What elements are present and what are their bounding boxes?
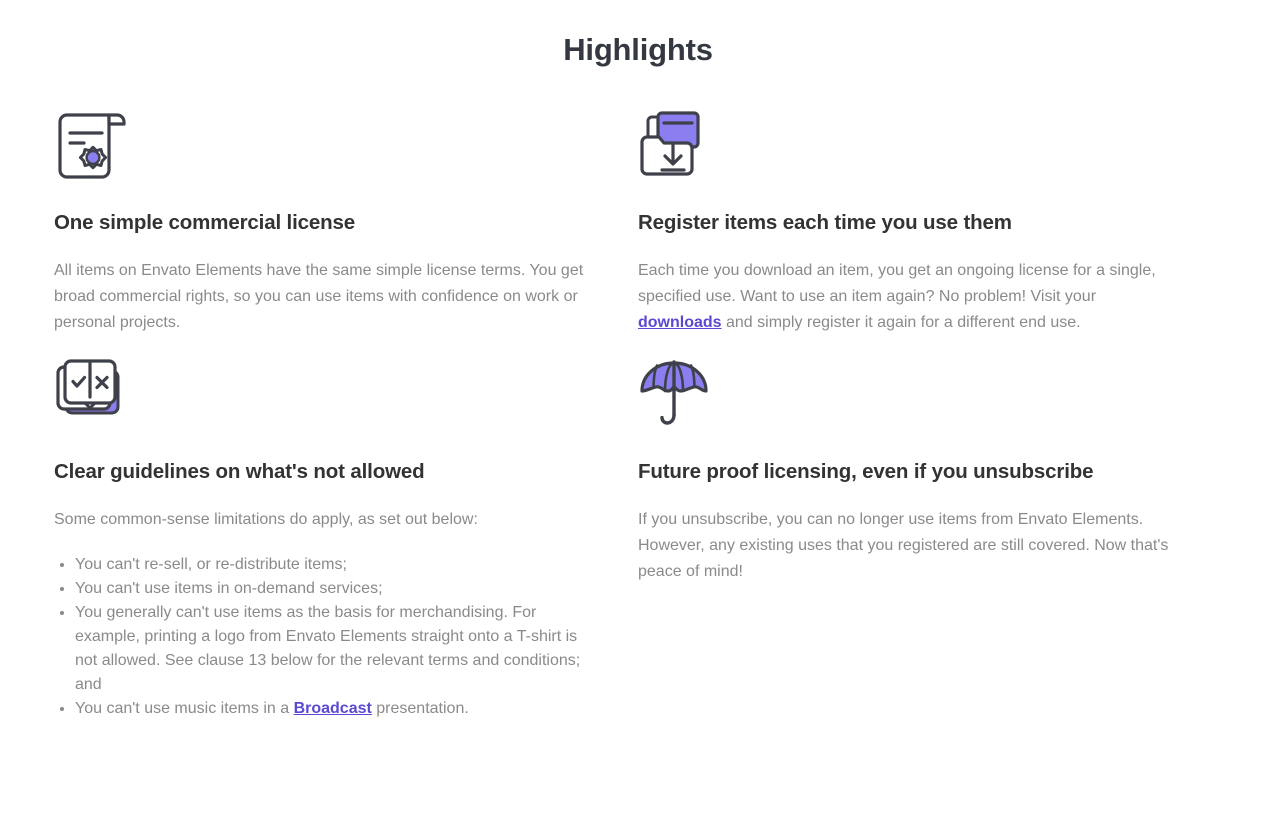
card-body-text: If you unsubscribe, you can no longer us… bbox=[638, 511, 1168, 580]
highlights-grid: One simple commercial license All items … bbox=[0, 70, 1276, 721]
download-folder-icon bbox=[638, 108, 1178, 192]
highlight-card-register: Register items each time you use them Ea… bbox=[638, 108, 1222, 336]
card-body: All items on Envato Elements have the sa… bbox=[54, 258, 594, 336]
card-body: Each time you download an item, you get … bbox=[638, 258, 1178, 336]
list-item: You generally can't use items as the bas… bbox=[54, 601, 594, 697]
list-item-text: You can't use items in on-demand service… bbox=[75, 580, 383, 597]
list-item-text-after: presentation. bbox=[372, 700, 469, 717]
list-item-text: You generally can't use items as the bas… bbox=[75, 604, 580, 693]
card-body: Some common-sense limitations do apply, … bbox=[54, 507, 594, 533]
umbrella-icon bbox=[638, 357, 1178, 441]
highlight-card-future-proof: Future proof licensing, even if you unsu… bbox=[638, 357, 1222, 721]
card-body-text: All items on Envato Elements have the sa… bbox=[54, 262, 583, 331]
card-title: Future proof licensing, even if you unsu… bbox=[638, 459, 1178, 485]
card-title: Register items each time you use them bbox=[638, 210, 1178, 236]
card-body-text-after: and simply register it again for a diffe… bbox=[722, 314, 1081, 331]
list-item: You can't use items in on-demand service… bbox=[54, 577, 594, 601]
card-body-text-before: Each time you download an item, you get … bbox=[638, 262, 1156, 305]
highlight-card-guidelines: Clear guidelines on what's not allowed S… bbox=[54, 357, 638, 721]
list-item-text-before: You can't use music items in a bbox=[75, 700, 294, 717]
highlights-page: Highlights One simple commercial license… bbox=[0, 0, 1276, 831]
card-body-text: Some common-sense limitations do apply, … bbox=[54, 511, 478, 528]
downloads-link[interactable]: downloads bbox=[638, 314, 722, 331]
guidelines-book-icon bbox=[54, 357, 594, 441]
list-item: You can't use music items in a Broadcast… bbox=[54, 697, 594, 721]
list-item-text: You can't re-sell, or re-distribute item… bbox=[75, 556, 347, 573]
page-title: Highlights bbox=[0, 0, 1276, 70]
highlight-card-license: One simple commercial license All items … bbox=[54, 108, 638, 336]
list-item: You can't re-sell, or re-distribute item… bbox=[54, 553, 594, 577]
license-scroll-icon bbox=[54, 108, 594, 192]
limitations-list: You can't re-sell, or re-distribute item… bbox=[54, 553, 594, 721]
broadcast-link[interactable]: Broadcast bbox=[294, 700, 372, 717]
card-body: If you unsubscribe, you can no longer us… bbox=[638, 507, 1178, 585]
card-title: One simple commercial license bbox=[54, 210, 594, 236]
card-title: Clear guidelines on what's not allowed bbox=[54, 459, 594, 485]
